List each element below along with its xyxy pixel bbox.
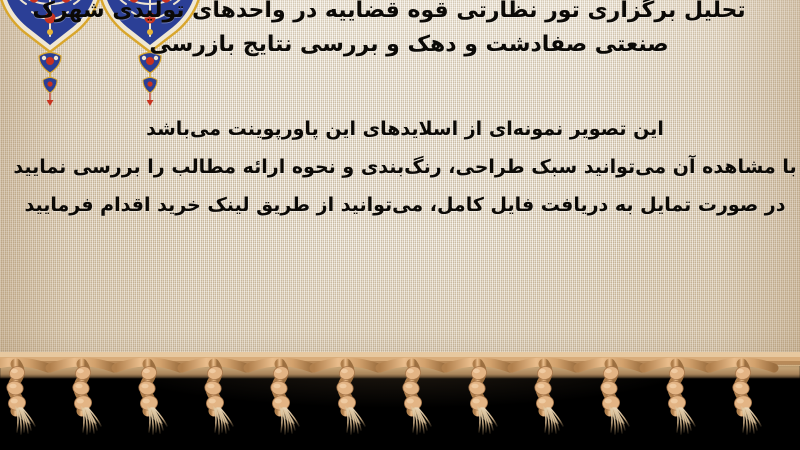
slide-title-line-1: تحلیل برگزاری تور نظارتی قوه قضاییه در و… (18, 0, 800, 28)
slide-canvas: تحلیل برگزاری تور نظارتی قوه قضاییه در و… (0, 0, 800, 450)
slide-body-line-1: این تصویر نمونه‌ای از اسلایدهای این پاور… (10, 110, 800, 148)
knotted-tassel-fringe (0, 352, 800, 450)
slide-body-line-3: در صورت تمایل به دریافت فایل کامل، می‌تو… (10, 186, 800, 224)
slide-body-line-2: با مشاهده آن می‌توانید سبک طراحی، رنگ‌بن… (10, 148, 800, 186)
knotted-tassel-fringe-icon (0, 352, 800, 450)
slide-title: تحلیل برگزاری تور نظارتی قوه قضاییه در و… (18, 0, 800, 62)
slide-body: این تصویر نمونه‌ای از اسلایدهای این پاور… (10, 110, 800, 224)
slide-title-line-2: صنعتی صفادشت و دهک و بررسی نتایج بازرسی (18, 28, 800, 62)
